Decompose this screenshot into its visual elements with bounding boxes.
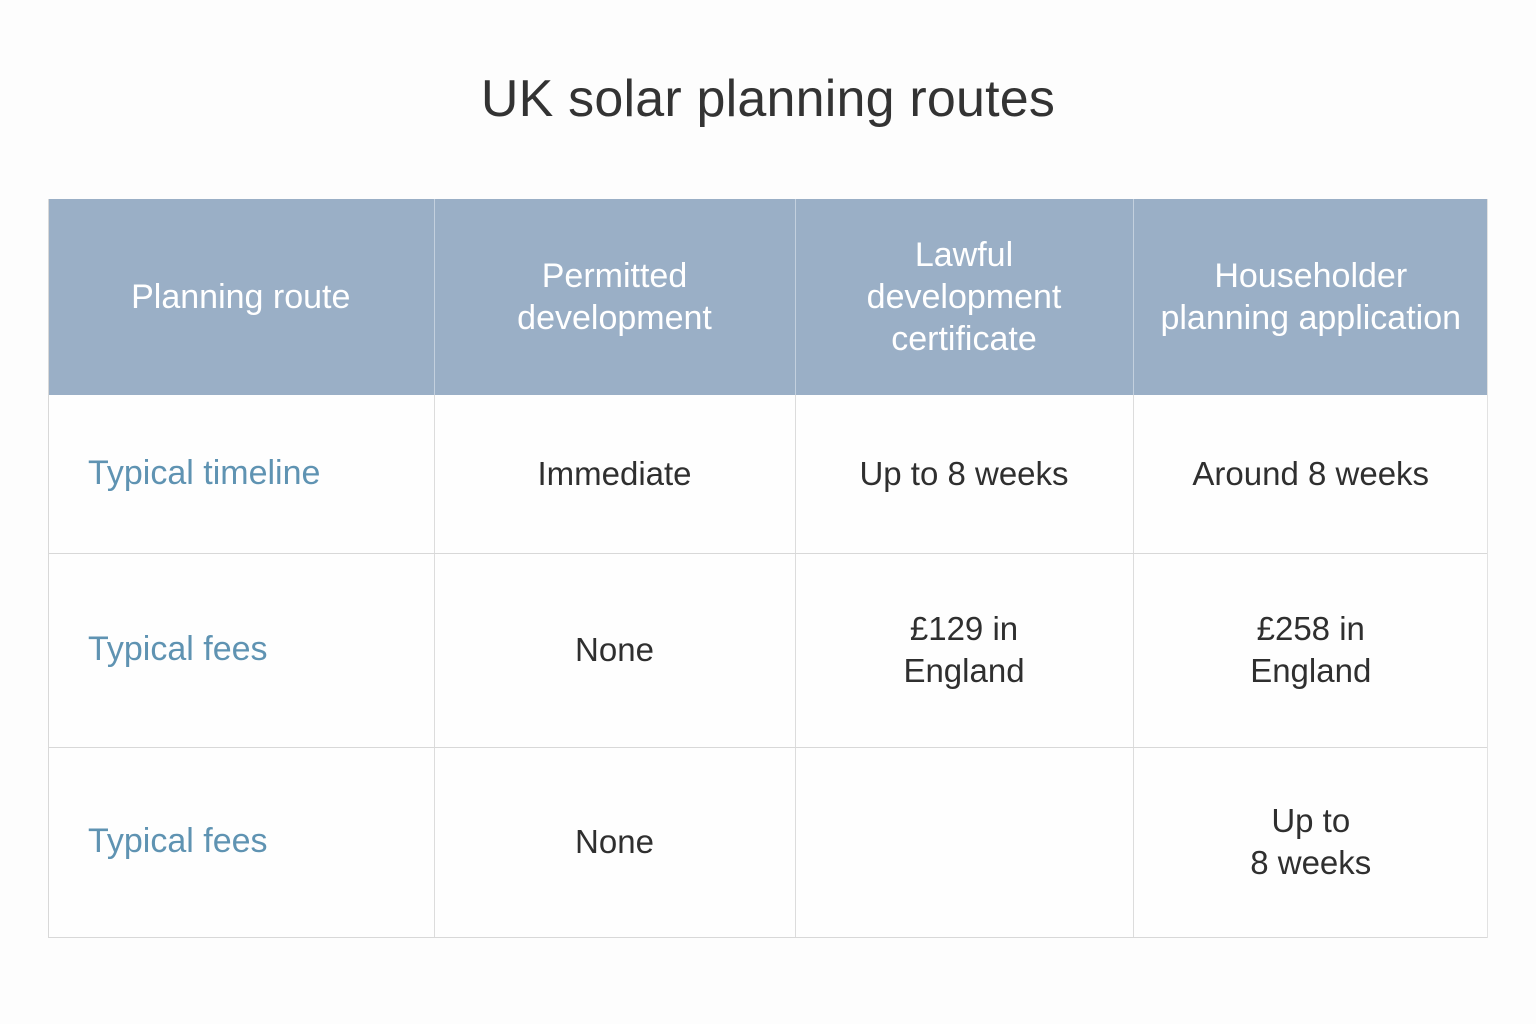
cell-fees2-permitted-development: None [434,747,795,937]
table-row: Typical timeline Immediate Up to 8 weeks… [48,395,1488,553]
cell-timeline-permitted-development: Immediate [434,395,795,553]
table-row: Typical fees None Up to 8 weeks [48,747,1488,937]
routes-table-container: Planning route Permitted development Law… [48,199,1488,938]
row-label-typical-timeline: Typical timeline [48,395,434,553]
cell-fees-lawful-development-certificate: £129 in England [795,553,1133,747]
column-header-permitted-development: Permitted development [434,199,795,395]
cell-text-line-1: £129 in [812,608,1117,650]
cell-timeline-lawful-development-certificate: Up to 8 weeks [795,395,1133,553]
page-root: UK solar planning routes Planning route … [0,0,1536,1024]
column-header-planning-route: Planning route [48,199,434,395]
cell-text-line-2: England [812,650,1117,692]
cell-fees-householder-planning-application: £258 in England [1133,553,1488,747]
cell-text-line-1: £258 in [1150,608,1473,650]
header-row: Planning route Permitted development Law… [48,199,1488,395]
page-title: UK solar planning routes [0,70,1536,130]
cell-text-line-1: Up to [1150,800,1473,842]
row-label-typical-fees-secondary: Typical fees [48,747,434,937]
cell-fees2-householder-planning-application: Up to 8 weeks [1133,747,1488,937]
cell-text-line-2: England [1150,650,1473,692]
cell-fees-permitted-development: None [434,553,795,747]
table-body: Typical timeline Immediate Up to 8 weeks… [48,395,1488,937]
cell-text-line-2: 8 weeks [1150,842,1473,884]
column-header-householder-planning-application: Householder planning application [1133,199,1488,395]
table-row: Typical fees None £129 in England £258 i… [48,553,1488,747]
row-label-typical-fees: Typical fees [48,553,434,747]
cell-timeline-householder-planning-application: Around 8 weeks [1133,395,1488,553]
column-header-lawful-development-certificate: Lawful development certificate [795,199,1133,395]
routes-table: Planning route Permitted development Law… [48,199,1488,938]
cell-fees2-lawful-development-certificate [795,747,1133,937]
table-header: Planning route Permitted development Law… [48,199,1488,395]
